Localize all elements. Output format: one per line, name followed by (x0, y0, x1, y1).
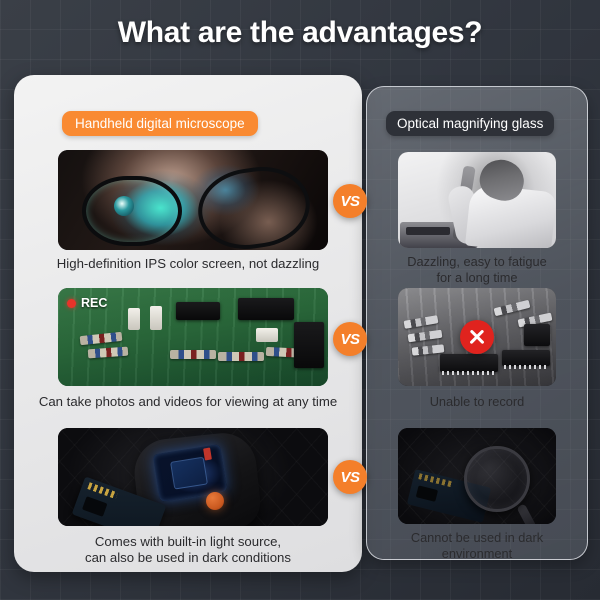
right-column-label: Optical magnifying glass (386, 111, 554, 136)
resistor (494, 300, 531, 316)
right-image-3-magnifier-dark (398, 428, 556, 524)
x-mark-icon (460, 320, 494, 354)
left-caption-3: Comes with built-in light source, can al… (18, 534, 358, 566)
infographic-canvas: What are the advantages? Handheld digita… (0, 0, 600, 600)
chip-pins (504, 365, 548, 369)
dark-scene-artwork (58, 428, 328, 526)
ic-chip (440, 354, 498, 372)
capacitor (128, 308, 140, 330)
vs-badge-1: VS (333, 184, 367, 218)
chip-pins (442, 371, 496, 375)
left-image-3-handheld-device-dark (58, 428, 328, 526)
magnifier-lens-shape (464, 446, 530, 512)
ic-chip (294, 322, 324, 368)
fatigue-scene-artwork (398, 152, 556, 248)
rec-label: REC (81, 296, 107, 310)
vs-badge-2: VS (333, 322, 367, 356)
rec-indicator: REC (67, 296, 107, 310)
resistor (218, 352, 264, 361)
rec-dot-icon (67, 299, 76, 308)
vs-badge-3: VS (333, 460, 367, 494)
right-image-2-grayscale-circuit-board (398, 288, 556, 386)
right-caption-3: Cannot be used in dark environment (372, 530, 582, 561)
pupil-shape (114, 196, 134, 216)
right-image-1-person-fatigued (398, 152, 556, 248)
resistor (170, 350, 216, 359)
dark-magnifier-artwork (398, 428, 556, 524)
ic-chip (176, 302, 220, 320)
ic-chip (524, 324, 550, 346)
magnifier-handle-shape (516, 503, 536, 524)
left-image-1-eye-behind-glasses (58, 150, 328, 250)
component (256, 328, 278, 342)
device-orange-button (206, 492, 224, 510)
resistor (404, 315, 439, 329)
left-column-label: Handheld digital microscope (62, 111, 258, 136)
resistor (408, 330, 443, 343)
screen-inner (170, 457, 208, 490)
eye-glasses-artwork (58, 150, 328, 250)
left-image-2-green-circuit-board: REC (58, 288, 328, 386)
left-caption-2: Can take photos and videos for viewing a… (18, 394, 358, 410)
capacitor (150, 306, 162, 330)
ic-chip (238, 298, 294, 320)
right-caption-2: Unable to record (372, 394, 582, 410)
left-caption-1: High-definition IPS color screen, not da… (18, 256, 358, 272)
ic-chip (502, 350, 550, 366)
page-title: What are the advantages? (0, 16, 600, 50)
right-caption-1: Dazzling, easy to fatigue for a long tim… (372, 254, 582, 285)
